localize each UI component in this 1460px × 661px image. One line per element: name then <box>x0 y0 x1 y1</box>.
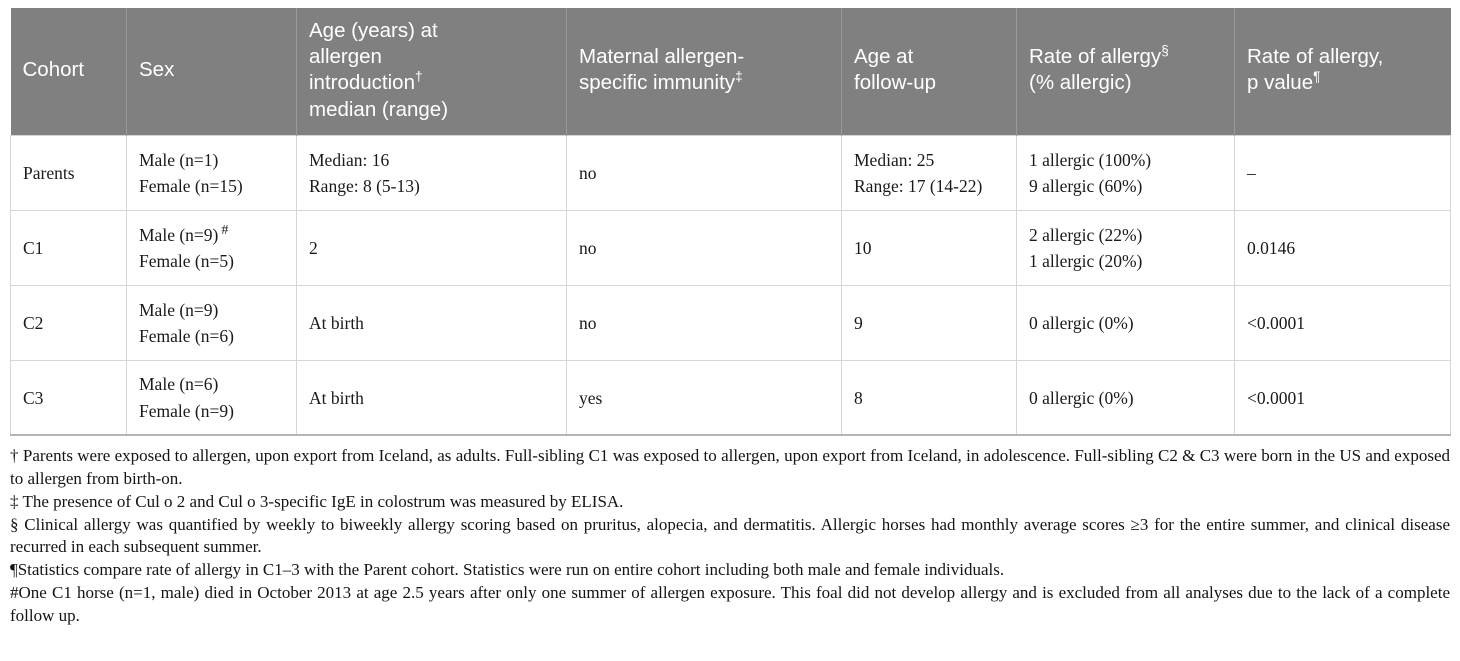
cell-followup-line1: 8 <box>854 385 1004 411</box>
cell-sex-female: Female (n=6) <box>139 323 284 349</box>
column-header-rate-of-allergy-p-value: Rate of allergy, p value¶ <box>1235 8 1451 135</box>
column-header-sex-label: Sex <box>139 58 174 81</box>
cell-maternal-immunity: no <box>567 285 842 360</box>
column-header-age-intro-line3: introduction† <box>309 70 554 96</box>
cell-sex-male: Male (n=9) <box>139 297 284 323</box>
footnote-dagger: † Parents were exposed to allergen, upon… <box>10 445 1450 490</box>
cell-sex-female: Female (n=5) <box>139 248 284 274</box>
cell-sex-male: Male (n=9)# <box>139 222 284 248</box>
cell-cohort: C3 <box>11 360 127 435</box>
cell-p-value: 0.0146 <box>1235 210 1451 285</box>
table-figure-page: Cohort Sex Age (years) at allergen intro… <box>0 0 1460 661</box>
cell-sex-male-text: Male (n=9) <box>139 225 218 245</box>
table-row: Parents Male (n=1) Female (n=15) Median:… <box>11 135 1451 210</box>
cell-rate-of-allergy: 0 allergic (0%) <box>1017 360 1235 435</box>
cell-sex-male-text: Male (n=1) <box>139 150 218 170</box>
cell-maternal-immunity: yes <box>567 360 842 435</box>
cell-rate-line1: 2 allergic (22%) <box>1029 222 1222 248</box>
column-header-age-at-follow-up: Age at follow-up <box>842 8 1017 135</box>
cell-age-followup: 8 <box>842 360 1017 435</box>
footnote-hash: #One C1 horse (n=1, male) died in Octobe… <box>10 582 1450 627</box>
cell-age-intro-line1: At birth <box>309 310 554 336</box>
column-header-rate-line2: (% allergic) <box>1029 70 1222 96</box>
column-header-cohort-label: Cohort <box>23 58 85 81</box>
cell-sex: Male (n=1) Female (n=15) <box>127 135 297 210</box>
cell-age-followup: 10 <box>842 210 1017 285</box>
cell-age-intro-line1: At birth <box>309 385 554 411</box>
table-header: Cohort Sex Age (years) at allergen intro… <box>11 8 1451 135</box>
cell-rate-line2: 1 allergic (20%) <box>1029 248 1222 274</box>
table-header-row: Cohort Sex Age (years) at allergen intro… <box>11 8 1451 135</box>
column-header-rate-of-allergy: Rate of allergy§ (% allergic) <box>1017 8 1235 135</box>
table-row: C1 Male (n=9)# Female (n=5) 2 no 10 2 al… <box>11 210 1451 285</box>
cell-followup-line2: Range: 17 (14-22) <box>854 173 1004 199</box>
cell-age-intro: Median: 16 Range: 8 (5-13) <box>297 135 567 210</box>
footnote-marker-pilcrow: ¶ <box>1313 70 1320 85</box>
cell-maternal-immunity: no <box>567 210 842 285</box>
cell-rate-line2: 9 allergic (60%) <box>1029 173 1222 199</box>
cell-cohort: Parents <box>11 135 127 210</box>
cell-rate-of-allergy: 1 allergic (100%) 9 allergic (60%) <box>1017 135 1235 210</box>
cell-followup-line1: Median: 25 <box>854 147 1004 173</box>
footnote-double-dagger: ‡ The presence of Cul o 2 and Cul o 3-sp… <box>10 491 1450 513</box>
column-header-sex: Sex <box>127 8 297 135</box>
cell-age-intro: At birth <box>297 285 567 360</box>
cell-age-intro-line2: Range: 8 (5-13) <box>309 173 554 199</box>
footnote-pilcrow: ¶Statistics compare rate of allergy in C… <box>10 559 1450 581</box>
cell-age-intro: 2 <box>297 210 567 285</box>
cell-sex: Male (n=6) Female (n=9) <box>127 360 297 435</box>
column-header-maternal-line1: Maternal allergen- <box>579 44 829 70</box>
cell-rate-line1: 0 allergic (0%) <box>1029 385 1222 411</box>
cell-sex-male: Male (n=1) <box>139 147 284 173</box>
table-row: C2 Male (n=9) Female (n=6) At birth no 9… <box>11 285 1451 360</box>
footnote-section: § Clinical allergy was quantified by wee… <box>10 514 1450 559</box>
footnote-marker-double-dagger: ‡ <box>735 70 743 85</box>
column-header-age-at-allergen-introduction: Age (years) at allergen introduction† me… <box>297 8 567 135</box>
cell-followup-line1: 9 <box>854 310 1004 336</box>
cell-rate-of-allergy: 2 allergic (22%) 1 allergic (20%) <box>1017 210 1235 285</box>
table-body: Parents Male (n=1) Female (n=15) Median:… <box>11 135 1451 435</box>
column-header-maternal-line2-text: specific immunity <box>579 71 735 94</box>
footnote-marker-dagger: † <box>415 70 423 85</box>
table-row: C3 Male (n=6) Female (n=9) At birth yes … <box>11 360 1451 435</box>
cell-age-intro: At birth <box>297 360 567 435</box>
footnote-marker-section: § <box>1161 43 1169 58</box>
cell-rate-line1: 0 allergic (0%) <box>1029 310 1222 336</box>
cohort-allergy-table: Cohort Sex Age (years) at allergen intro… <box>10 8 1451 436</box>
column-header-rate-line1-text: Rate of allergy <box>1029 45 1161 68</box>
cell-sex-female: Female (n=15) <box>139 173 284 199</box>
footnote-marker-hash: # <box>218 223 228 238</box>
column-header-maternal-line2: specific immunity‡ <box>579 70 829 96</box>
footnote-marker-hash <box>218 148 221 163</box>
cell-rate-of-allergy: 0 allergic (0%) <box>1017 285 1235 360</box>
cell-cohort: C2 <box>11 285 127 360</box>
cell-maternal-immunity: no <box>567 135 842 210</box>
table-footnotes: † Parents were exposed to allergen, upon… <box>10 445 1450 627</box>
cell-age-followup: 9 <box>842 285 1017 360</box>
column-header-followup-line2: follow-up <box>854 70 1004 96</box>
column-header-followup-line1: Age at <box>854 44 1004 70</box>
column-header-pvalue-line2-text: p value <box>1247 71 1313 94</box>
cell-p-value: <0.0001 <box>1235 360 1451 435</box>
cell-age-followup: Median: 25 Range: 17 (14-22) <box>842 135 1017 210</box>
cell-cohort: C1 <box>11 210 127 285</box>
column-header-pvalue-line1: Rate of allergy, <box>1247 44 1439 70</box>
cell-age-intro-line1: 2 <box>309 235 554 261</box>
cell-sex-male: Male (n=6) <box>139 371 284 397</box>
column-header-age-intro-line1: Age (years) at <box>309 18 554 44</box>
column-header-age-intro-line3-text: introduction <box>309 71 415 94</box>
cell-sex-female: Female (n=9) <box>139 398 284 424</box>
cell-sex: Male (n=9)# Female (n=5) <box>127 210 297 285</box>
column-header-maternal-allergen-specific-immunity: Maternal allergen- specific immunity‡ <box>567 8 842 135</box>
cell-age-intro-line1: Median: 16 <box>309 147 554 173</box>
cell-p-value: – <box>1235 135 1451 210</box>
column-header-pvalue-line2: p value¶ <box>1247 70 1439 96</box>
cell-sex: Male (n=9) Female (n=6) <box>127 285 297 360</box>
cell-sex-male-text: Male (n=6) <box>139 374 218 394</box>
cell-p-value: <0.0001 <box>1235 285 1451 360</box>
footnote-marker-hash <box>218 373 221 388</box>
column-header-age-intro-line4: median (range) <box>309 97 554 123</box>
cell-followup-line1: 10 <box>854 235 1004 261</box>
column-header-cohort: Cohort <box>11 8 127 135</box>
cell-rate-line1: 1 allergic (100%) <box>1029 147 1222 173</box>
column-header-rate-line1: Rate of allergy§ <box>1029 44 1222 70</box>
cell-sex-male-text: Male (n=9) <box>139 300 218 320</box>
footnote-marker-hash <box>218 298 221 313</box>
column-header-age-intro-line2: allergen <box>309 44 554 70</box>
